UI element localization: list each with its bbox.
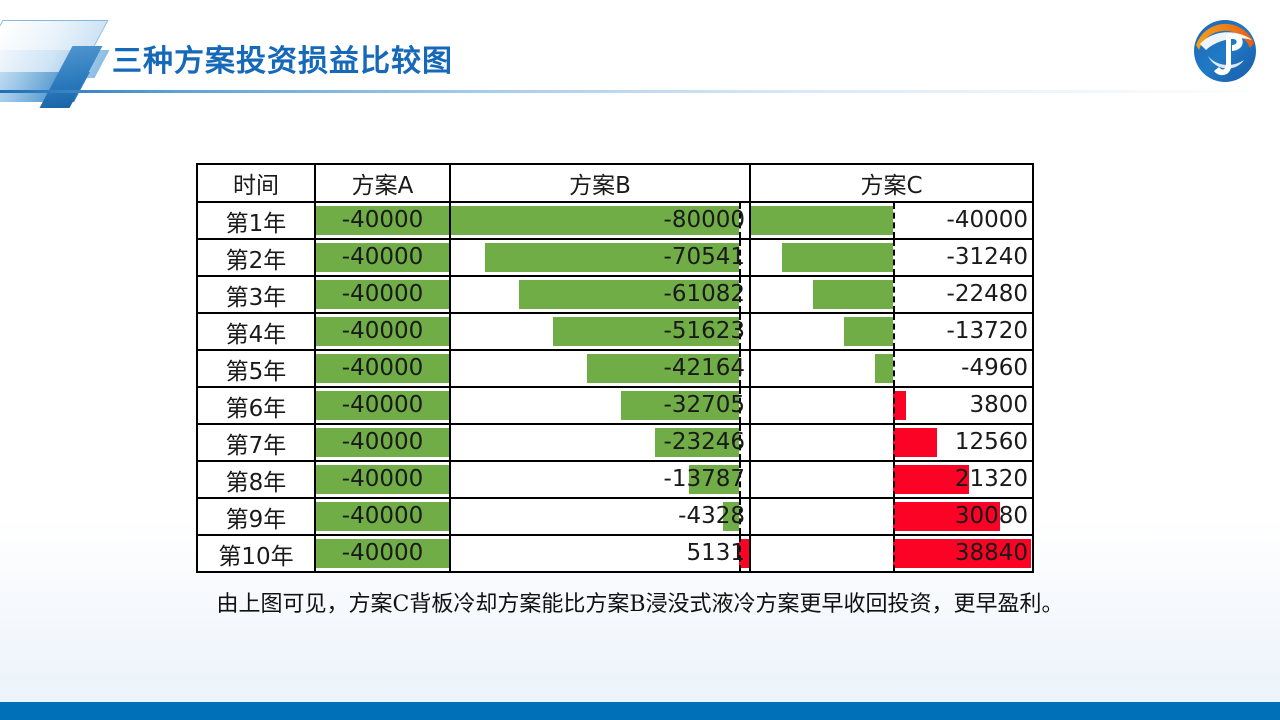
cell-value: -70541 [451,240,749,275]
cell-value: -42164 [451,351,749,386]
row-label-year: 第2年 [197,239,315,276]
databar-cell-plan-b: 5131 [450,535,750,572]
cell-value: -51623 [451,314,749,349]
databar-cell-plan-a: -40000 [315,350,450,387]
column-header-plan-c: 方案C [750,164,1033,202]
cell-value: -40000 [316,536,449,571]
cell-value: -40000 [316,351,449,386]
databar-cell-plan-c: -22480 [750,276,1033,313]
table-row: 第4年-40000-51623-13720 [197,313,1033,350]
databar-cell-plan-c: 30080 [750,498,1033,535]
slide-caption: 由上图可见，方案C背板冷却方案能比方案B浸没式液冷方案更早收回投资，更早盈利。 [0,586,1280,618]
databar-cell-plan-a: -40000 [315,461,450,498]
databar-cell-plan-c: 21320 [750,461,1033,498]
databar-cell-plan-c: -31240 [750,239,1033,276]
cell-value: 21320 [751,462,1032,497]
row-label-year: 第4年 [197,313,315,350]
cell-value: -40000 [316,277,449,312]
column-header-plan-a: 方案A [315,164,450,202]
table-row: 第5年-40000-42164-4960 [197,350,1033,387]
databar-cell-plan-c: 3800 [750,387,1033,424]
row-label-year: 第10年 [197,535,315,572]
row-label-year: 第5年 [197,350,315,387]
cell-value: 30080 [751,499,1032,534]
cell-value: -4328 [451,499,749,534]
cell-value: -31240 [751,240,1032,275]
databar-cell-plan-c: -4960 [750,350,1033,387]
cell-value: 3800 [751,388,1032,423]
cell-value: -40000 [316,462,449,497]
cell-value: -13787 [451,462,749,497]
databar-cell-plan-a: -40000 [315,535,450,572]
row-label-year: 第7年 [197,424,315,461]
page-title: 三种方案投资损益比较图 [112,36,453,80]
table-row: 第7年-40000-2324612560 [197,424,1033,461]
row-label-year: 第8年 [197,461,315,498]
table-row: 第8年-40000-1378721320 [197,461,1033,498]
slide-header: 三种方案投资损益比较图 [0,0,1280,100]
table-row: 第10年-40000513138840 [197,535,1033,572]
databar-cell-plan-a: -40000 [315,498,450,535]
cell-value: -13720 [751,314,1032,349]
cell-value: 5131 [451,536,749,571]
table-body: 第1年-40000-80000-40000第2年-40000-70541-312… [197,202,1033,572]
cell-value: -61082 [451,277,749,312]
databar-cell-plan-b: -70541 [450,239,750,276]
databar-cell-plan-b: -42164 [450,350,750,387]
cell-value: -22480 [751,277,1032,312]
investment-comparison-table: 时间 方案A 方案B 方案C 第1年-40000-80000-40000第2年-… [196,163,1034,573]
databar-cell-plan-c: 12560 [750,424,1033,461]
table-row: 第1年-40000-80000-40000 [197,202,1033,239]
cell-value: -23246 [451,425,749,460]
footer-bar [0,702,1280,720]
databar-cell-plan-a: -40000 [315,276,450,313]
cell-value: -40000 [316,425,449,460]
databar-cell-plan-b: -80000 [450,202,750,239]
row-label-year: 第3年 [197,276,315,313]
databar-cell-plan-a: -40000 [315,424,450,461]
cell-value: -40000 [316,240,449,275]
databar-cell-plan-b: -32705 [450,387,750,424]
databar-cell-plan-a: -40000 [315,239,450,276]
column-header-plan-b: 方案B [450,164,750,202]
header-divider [0,90,1280,93]
cell-value: -80000 [451,203,749,238]
databar-cell-plan-b: -51623 [450,313,750,350]
row-label-year: 第1年 [197,202,315,239]
table-row: 第9年-40000-432830080 [197,498,1033,535]
databar-cell-plan-a: -40000 [315,202,450,239]
databar-cell-plan-c: 38840 [750,535,1033,572]
databar-cell-plan-b: -13787 [450,461,750,498]
databar-cell-plan-b: -61082 [450,276,750,313]
cell-value: -32705 [451,388,749,423]
table-header-row: 时间 方案A 方案B 方案C [197,164,1033,202]
databar-cell-plan-a: -40000 [315,387,450,424]
cell-value: -4960 [751,351,1032,386]
cell-value: 38840 [751,536,1032,571]
databar-cell-plan-b: -4328 [450,498,750,535]
databar-cell-plan-b: -23246 [450,424,750,461]
row-label-year: 第6年 [197,387,315,424]
databar-cell-plan-c: -13720 [750,313,1033,350]
column-header-time: 时间 [197,164,315,202]
cell-value: -40000 [751,203,1032,238]
cell-value: 12560 [751,425,1032,460]
databar-cell-plan-c: -40000 [750,202,1033,239]
cell-value: -40000 [316,314,449,349]
company-logo [1188,14,1262,88]
table-row: 第6年-40000-327053800 [197,387,1033,424]
cell-value: -40000 [316,499,449,534]
table-row: 第3年-40000-61082-22480 [197,276,1033,313]
row-label-year: 第9年 [197,498,315,535]
databar-cell-plan-a: -40000 [315,313,450,350]
cell-value: -40000 [316,203,449,238]
cell-value: -40000 [316,388,449,423]
table-row: 第2年-40000-70541-31240 [197,239,1033,276]
